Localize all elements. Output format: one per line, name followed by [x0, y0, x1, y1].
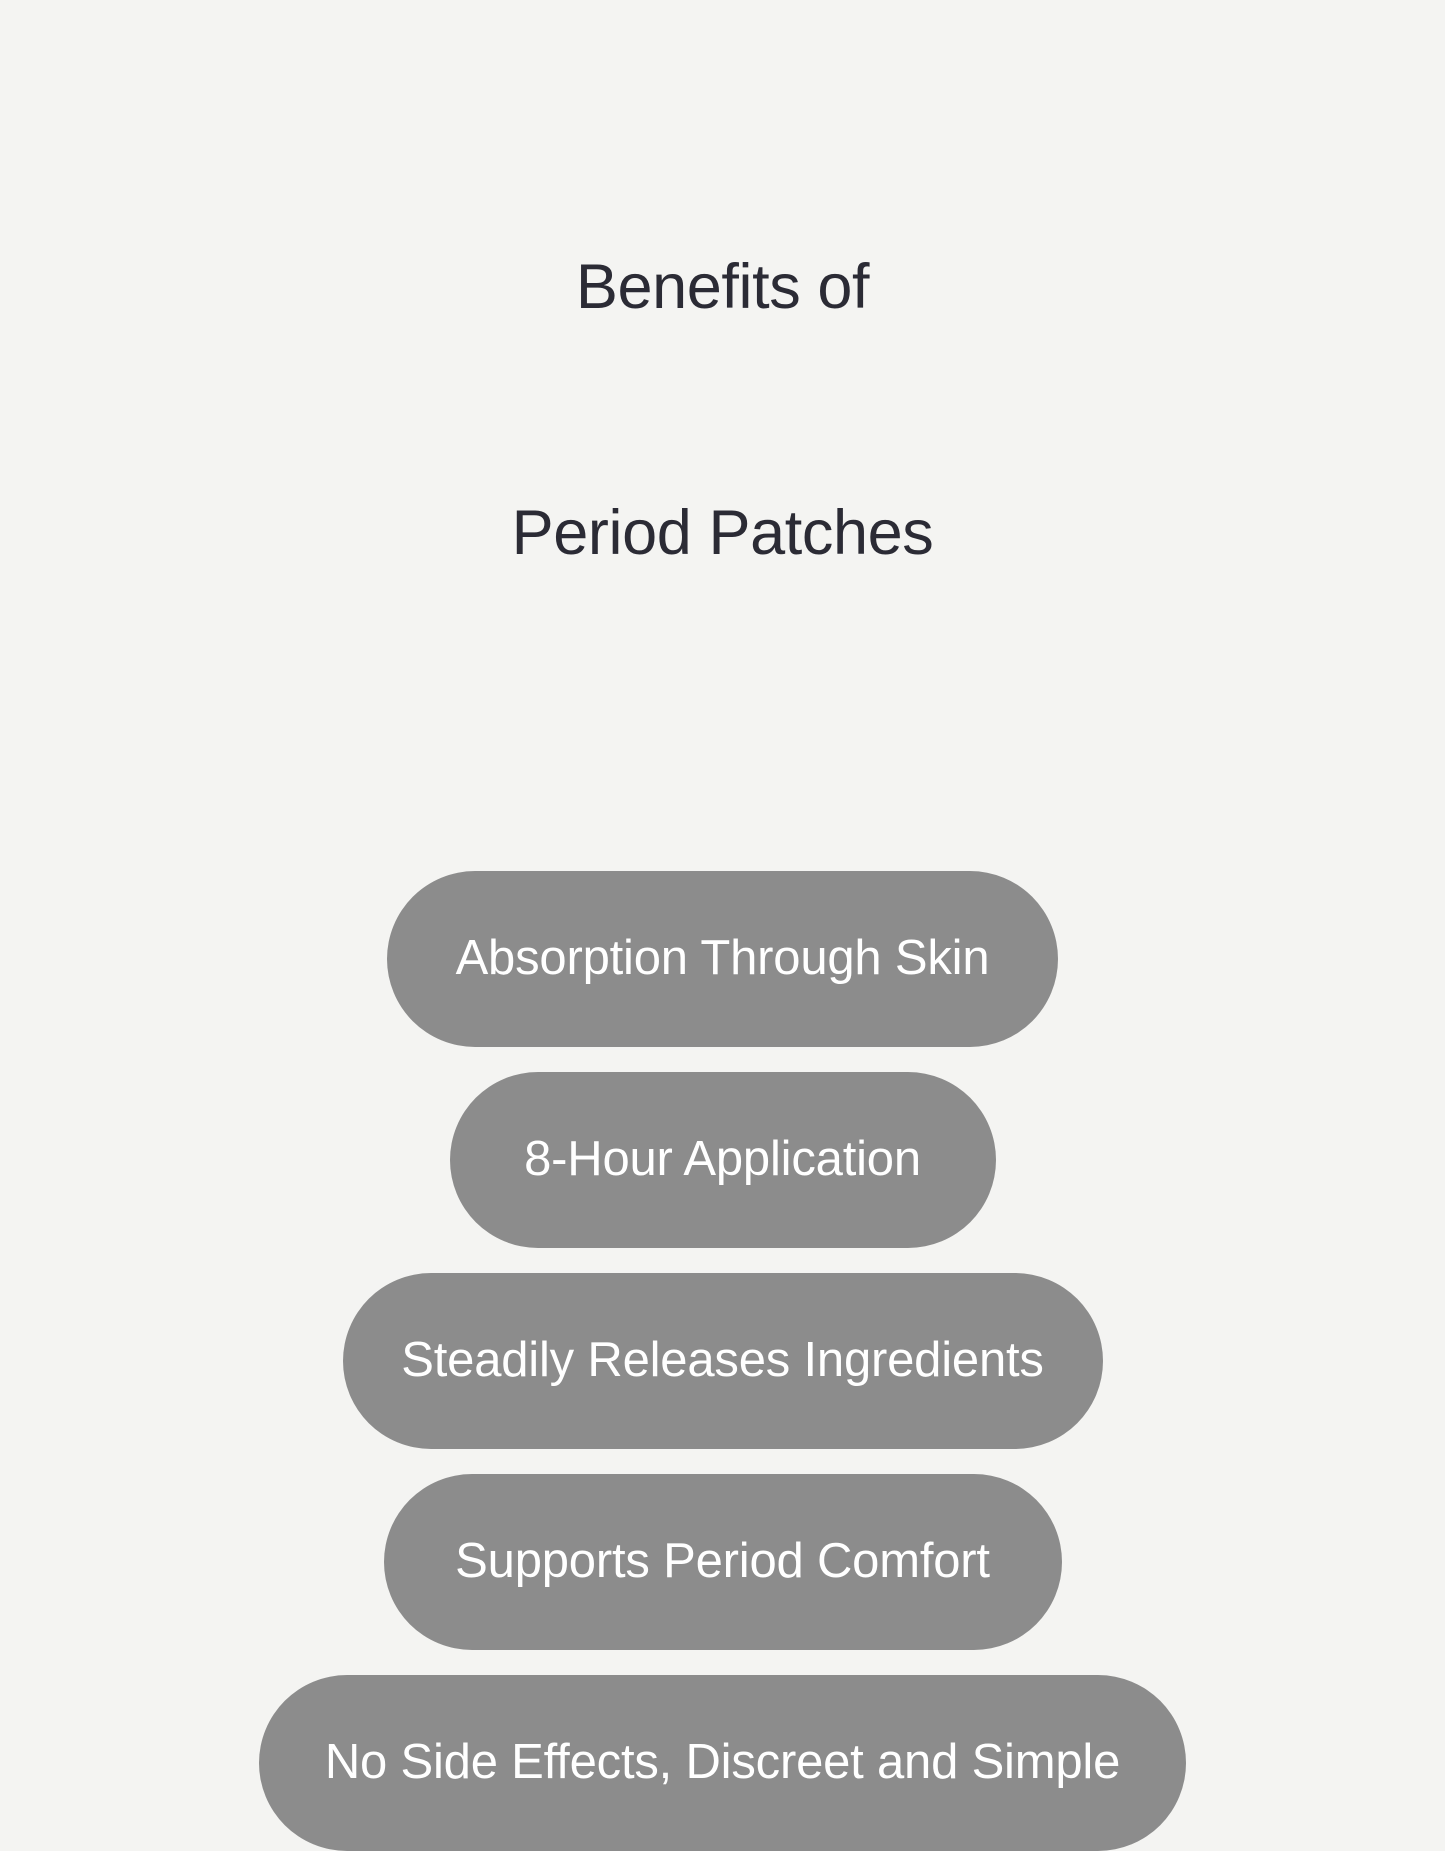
- page-title-line-2: Period Patches: [512, 492, 934, 574]
- benefit-pill-label: Steadily Releases Ingredients: [401, 1336, 1043, 1385]
- benefit-pill-absorption-through-skin: Absorption Through Skin: [387, 871, 1058, 1047]
- benefit-pill-label: 8-Hour Application: [524, 1135, 921, 1184]
- benefit-pill-label: Absorption Through Skin: [456, 934, 990, 983]
- benefits-list: Absorption Through Skin 8-Hour Applicati…: [259, 871, 1186, 1851]
- benefits-poster: Benefits of Period Patches Absorption Th…: [0, 0, 1445, 1445]
- benefit-pill-label: Supports Period Comfort: [455, 1537, 990, 1586]
- page-title-line-1: Benefits of: [512, 246, 934, 328]
- benefit-pill-steadily-releases-ingredients: Steadily Releases Ingredients: [343, 1273, 1103, 1449]
- benefit-pill-supports-period-comfort: Supports Period Comfort: [384, 1474, 1062, 1650]
- page-title: Benefits of Period Patches: [512, 82, 934, 738]
- benefit-pill-label: No Side Effects, Discreet and Simple: [325, 1738, 1120, 1787]
- benefit-pill-8-hour-application: 8-Hour Application: [450, 1072, 996, 1248]
- benefit-pill-no-side-effects-discreet-and-simple: No Side Effects, Discreet and Simple: [259, 1675, 1186, 1851]
